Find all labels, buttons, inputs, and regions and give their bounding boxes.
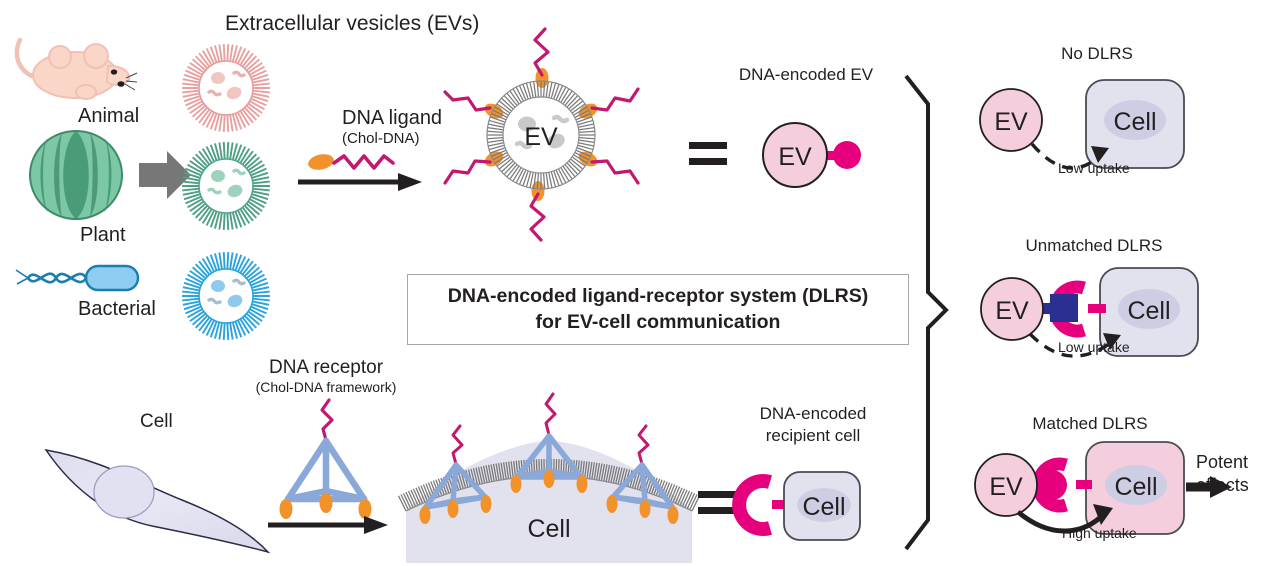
outcome-title-matched: Matched DLRS [1032,414,1147,434]
potent-effects-line1: Potent [1196,452,1248,473]
vesicle-plant [178,138,274,234]
outcome1-uptake-label: Low uptake [1058,160,1130,176]
dlrs-box-line1: DNA-encoded ligand-receptor system (DLRS… [448,284,868,310]
source-label-plant: Plant [80,224,126,247]
outcome2-ev-label: EV [995,297,1029,325]
watermelon-icon [28,130,124,220]
recipient-cell-caption-1: DNA-encoded [760,404,867,424]
dna-encoded-ev-symbol: EV [754,118,874,196]
dna-encoded-ev-caption: DNA-encoded EV [739,65,873,85]
outcome-title-no-dlrs: No DLRS [1061,44,1133,64]
mouse-icon [8,30,138,110]
outcome1-cell-label: Cell [1113,108,1156,136]
membrane-tetrahedron-center [511,394,588,493]
vesicle-animal [178,40,274,136]
outcome2-uptake-label: Low uptake [1058,339,1130,355]
process-arrow-ligand-icon [298,172,424,192]
equals-sign-top [688,138,728,170]
vesicle-bacterial [178,248,274,344]
dna-receptor-subtitle: (Chol-DNA framework) [256,379,397,395]
recipient-cell-caption-2: recipient cell [766,426,861,446]
cell-membrane-with-receptors: Cell [404,385,694,565]
dlrs-callout-box: DNA-encoded ligand-receptor system (DLRS… [407,274,909,345]
outcome3-ev-label: EV [989,473,1023,501]
fibroblast-cell-icon [42,430,272,555]
outcome1-ev-label: EV [994,108,1028,136]
source-label-bacterial: Bacterial [78,298,156,321]
outcome3-uptake-label: High uptake [1062,525,1137,541]
brace-bracket [898,70,952,555]
dna-receptor-title: DNA receptor [269,357,383,379]
ev-core-label: EV [524,123,558,151]
outcome3-cell-label: Cell [1114,473,1157,501]
outcome3-ligand-icon [1037,470,1067,500]
source-label-animal: Animal [78,105,139,128]
dna-ligand-subtitle: (Chol-DNA) [342,130,420,147]
membrane-cell-label: Cell [527,515,570,543]
outcome2-cell-label: Cell [1127,297,1170,325]
potent-effects-line2: effects [1196,475,1249,496]
bacterium-icon [14,258,140,302]
outcome2-ligand-icon [1050,294,1078,322]
ev-symbol-label: EV [778,143,812,171]
process-arrow-receptor-icon [268,515,390,535]
dna-encoded-cell-symbol: Cell [736,460,876,550]
dna-tetrahedron-icon [266,395,386,525]
ev-particle-diagram: EV [432,25,652,255]
dlrs-box-line2: for EV-cell communication [448,310,868,336]
outcome-panel-unmatched: Cell EV [960,262,1260,380]
dna-ligand-title: DNA ligand [342,107,442,130]
equals-sign-bottom [697,487,737,519]
recipient-cell-label: Cell [802,493,845,521]
outcome-title-unmatched: Unmatched DLRS [1025,236,1162,256]
